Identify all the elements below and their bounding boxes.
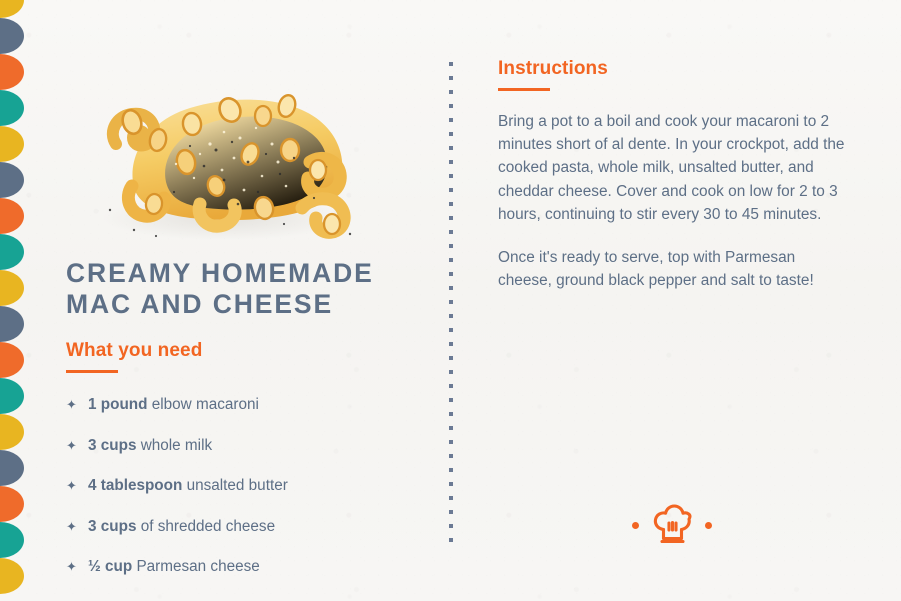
footer-ornament — [622, 500, 722, 550]
instructions-heading: Instructions — [498, 58, 853, 80]
recipe-title-line-2: MAC AND CHEESE — [66, 289, 333, 319]
ingredient-quantity: 1 pound — [88, 396, 147, 413]
scallop-dot — [0, 342, 24, 378]
scallop-dot — [0, 234, 24, 270]
diamond-bullet-icon: ✦ — [66, 476, 77, 495]
diamond-bullet-icon: ✦ — [66, 395, 77, 414]
ingredient-quantity: ½ cup — [88, 558, 132, 575]
ingredient-quantity: 3 cups — [88, 518, 136, 535]
scallop-dot — [0, 54, 24, 90]
ingredient-item: ✦3 cups of shredded cheese — [66, 517, 436, 536]
dotted-divider — [449, 62, 453, 542]
scalloped-edge-strip — [0, 0, 26, 601]
scallop-dot — [0, 270, 24, 306]
scallop-dot — [0, 18, 24, 54]
recipe-card: CREAMY HOMEMADE MAC AND CHEESE What you … — [0, 0, 901, 601]
ingredient-quantity: 4 tablespoon — [88, 477, 182, 494]
ingredients-panel: CREAMY HOMEMADE MAC AND CHEESE What you … — [66, 258, 436, 598]
ingredient-name: elbow macaroni — [147, 396, 258, 413]
scallop-dot — [0, 558, 24, 594]
scallop-dot — [0, 162, 24, 198]
mac-and-cheese-illustration — [74, 58, 379, 243]
ingredient-list: ✦1 pound elbow macaroni✦3 cups whole mil… — [66, 395, 436, 576]
ingredient-item: ✦1 pound elbow macaroni — [66, 395, 436, 414]
page-title: CREAMY HOMEMADE MAC AND CHEESE — [66, 258, 436, 320]
scallop-dot — [0, 306, 24, 342]
ingredient-item: ✦½ cup Parmesan cheese — [66, 557, 436, 576]
scallop-dot — [0, 486, 24, 522]
recipe-title-line-1: CREAMY HOMEMADE — [66, 258, 374, 288]
scallop-dot — [0, 90, 24, 126]
ingredient-name: of shredded cheese — [136, 518, 275, 535]
scallop-dot — [0, 198, 24, 234]
scallop-dot — [0, 0, 24, 18]
instructions-paragraph: Bring a pot to a boil and cook your maca… — [498, 110, 853, 226]
scallop-dot — [0, 450, 24, 486]
ingredient-name: whole milk — [136, 437, 212, 454]
ingredient-name: Parmesan cheese — [132, 558, 260, 575]
diamond-bullet-icon: ✦ — [66, 517, 77, 536]
ingredient-item: ✦3 cups whole milk — [66, 436, 436, 455]
ingredients-heading: What you need — [66, 340, 436, 362]
scallop-dot — [0, 522, 24, 558]
diamond-bullet-icon: ✦ — [66, 436, 77, 455]
instructions-panel: Instructions Bring a pot to a boil and c… — [498, 58, 853, 292]
diamond-bullet-icon: ✦ — [66, 557, 77, 576]
scallop-dot — [0, 126, 24, 162]
scallop-dot — [0, 414, 24, 450]
footer-dot-right — [705, 522, 712, 529]
footer-dot-left — [632, 522, 639, 529]
scallop-dot — [0, 378, 24, 414]
ingredient-item: ✦4 tablespoon unsalted butter — [66, 476, 436, 495]
ingredient-name: unsalted butter — [182, 477, 287, 494]
chef-hat-icon — [652, 504, 692, 546]
ingredients-heading-rule — [66, 370, 118, 373]
ingredient-quantity: 3 cups — [88, 437, 136, 454]
instructions-paragraph: Once it's ready to serve, top with Parme… — [498, 246, 853, 292]
instructions-heading-rule — [498, 88, 550, 91]
